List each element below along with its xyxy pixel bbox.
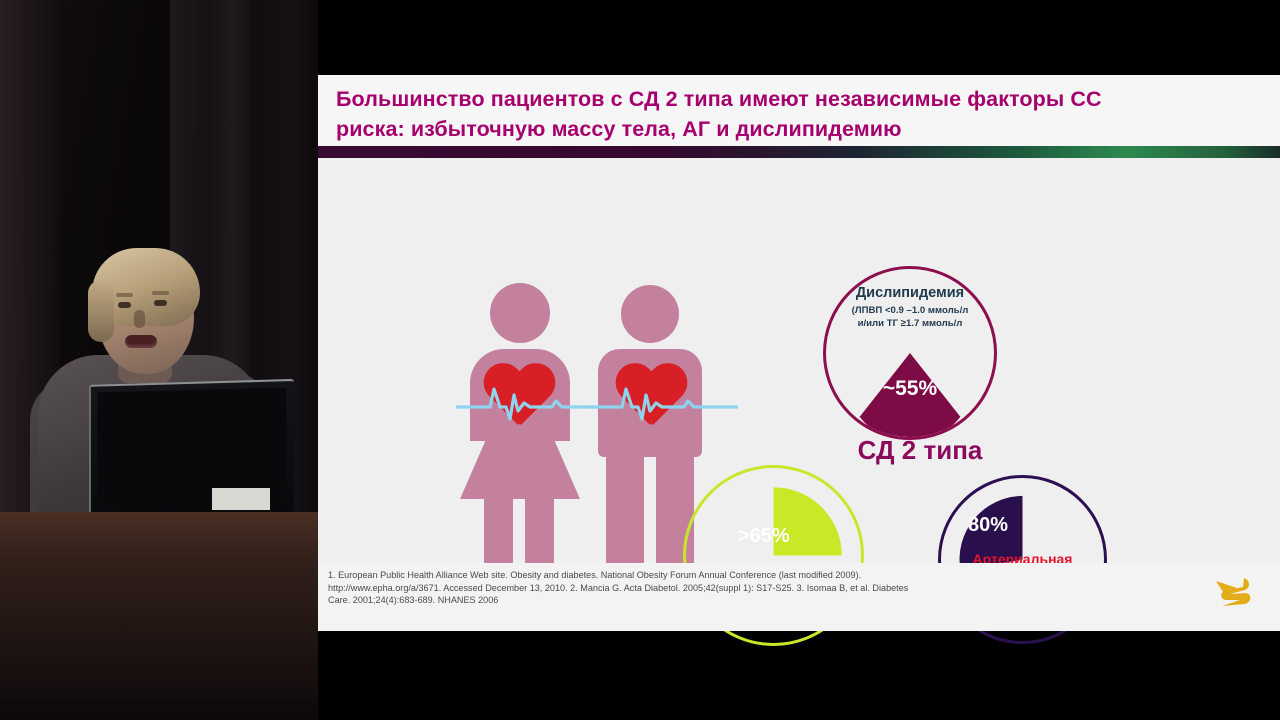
footnote-line-3: Care. 2001;24(4):683-689. NHANES 2006 bbox=[328, 594, 1028, 607]
center-label-diabetes-type2: СД 2 типа bbox=[830, 435, 1010, 466]
pictogram-group bbox=[468, 283, 718, 583]
podium bbox=[0, 512, 318, 720]
footnote-line-2: http://www.epha.org/a/3671. Accessed Dec… bbox=[328, 582, 1028, 595]
mouth bbox=[125, 335, 157, 348]
dyslipidemia-sub: (ЛПВП <0.9 –1.0 ммоль/л и/или ТГ ≥1.7 мм… bbox=[818, 305, 1002, 330]
eyebrow-left bbox=[116, 293, 133, 297]
slide-title: Большинство пациентов с СД 2 типа имеют … bbox=[336, 84, 1256, 144]
presentation-slide: Большинство пациентов с СД 2 типа имеют … bbox=[318, 75, 1280, 631]
video-frame: Большинство пациентов с СД 2 типа имеют … bbox=[0, 0, 1280, 720]
male-leg-left bbox=[606, 453, 644, 581]
nose bbox=[134, 310, 145, 328]
slide-footnote-area: 1. European Public Health Alliance Web s… bbox=[318, 563, 1280, 631]
eyebrow-right bbox=[152, 291, 169, 295]
title-divider-gradient bbox=[318, 146, 1280, 158]
female-head bbox=[490, 283, 550, 343]
dyslipidemia-label: Дислипидемия bbox=[826, 285, 994, 301]
speaker-video-panel bbox=[0, 0, 318, 720]
laptop-label-sticker bbox=[212, 488, 270, 510]
ecg-line-icon bbox=[588, 377, 738, 427]
slide-title-line-1: Большинство пациентов с СД 2 типа имеют … bbox=[336, 84, 1256, 114]
slide-body: Дислипидемия (ЛПВП <0.9 –1.0 ммоль/л и/и… bbox=[318, 158, 1280, 562]
hypertension-value: 80% bbox=[953, 514, 1023, 537]
dyslipidemia-value: ~55% bbox=[826, 377, 994, 401]
eye-right bbox=[154, 300, 167, 306]
dyslipidemia-circle: Дислипидемия (ЛПВП <0.9 –1.0 ммоль/л и/и… bbox=[823, 266, 997, 440]
overweight-value: >65% bbox=[738, 525, 818, 548]
slide-footnote: 1. European Public Health Alliance Web s… bbox=[328, 569, 1028, 607]
male-head bbox=[621, 285, 679, 343]
eye-left bbox=[118, 302, 131, 308]
ecg-line-icon bbox=[456, 377, 606, 427]
hair-side bbox=[88, 280, 114, 342]
footnote-line-1: 1. European Public Health Alliance Web s… bbox=[328, 569, 1028, 582]
astrazeneca-logo bbox=[1210, 575, 1256, 609]
slide-title-line-2: риска: избыточную массу тела, АГ и дисли… bbox=[336, 114, 1256, 144]
dyslipidemia-sub-line-2: и/или ТГ ≥1.7 ммоль/л bbox=[818, 318, 1002, 331]
female-skirt bbox=[460, 433, 580, 499]
slide-title-band: Большинство пациентов с СД 2 типа имеют … bbox=[318, 75, 1280, 148]
dyslipidemia-sub-line-1: (ЛПВП <0.9 –1.0 ммоль/л bbox=[818, 305, 1002, 318]
